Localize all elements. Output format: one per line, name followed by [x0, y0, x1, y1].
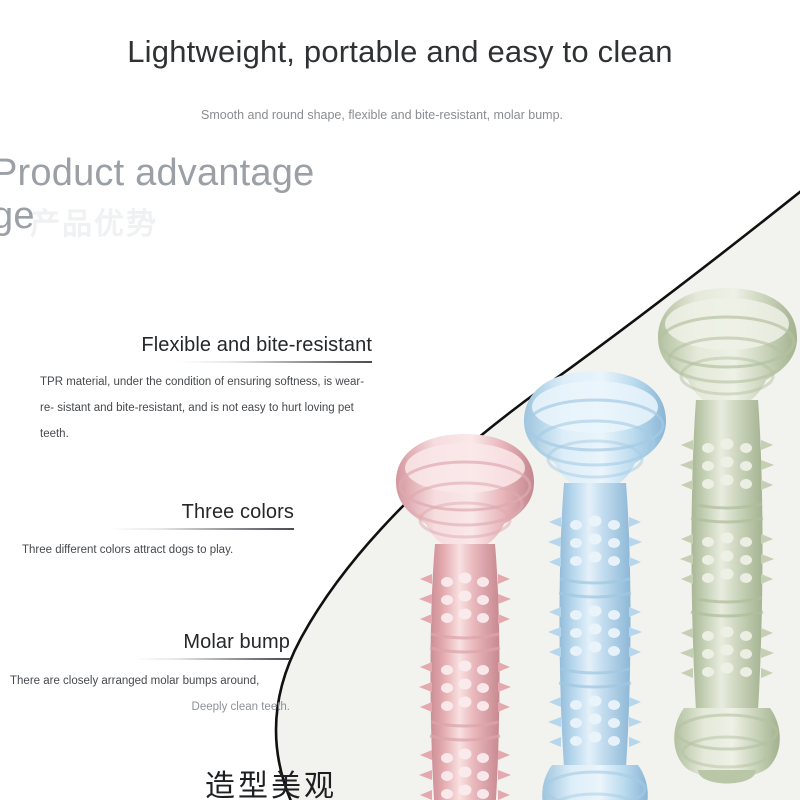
feature-molar-bump: Molar bump There are closely arranged mo…: [10, 630, 290, 720]
bottom-caption: 造型美观: [205, 770, 337, 800]
feature-title: Molar bump: [10, 630, 290, 654]
feature-underline: [134, 658, 290, 660]
feature-underline: [108, 528, 294, 530]
feature-desc-line-2: Deeply clean teeth.: [10, 694, 290, 720]
pink-chew-toy: [378, 428, 553, 800]
feature-description: Three different colors attract dogs to p…: [22, 539, 294, 561]
feature-three-colors: Three colors Three different colors attr…: [22, 500, 294, 561]
feature-flexible-bite-resistant: Flexible and bite-resistant TPR material…: [40, 333, 372, 447]
page-title: Lightweight, portable and easy to clean: [0, 34, 800, 70]
feature-description: TPR material, under the condition of ens…: [40, 369, 372, 447]
feature-description: There are closely arranged molar bumps a…: [10, 668, 290, 720]
feature-desc-line-1: There are closely arranged molar bumps a…: [10, 675, 259, 687]
feature-desc-line-1: Three different colors attract dogs to p…: [22, 544, 233, 556]
section-watermark: 产品优势: [30, 208, 330, 242]
section-heading-group: 产品优势 Product advantage ge: [0, 152, 352, 238]
pink-toy-art: [396, 434, 534, 800]
page-subtitle: Smooth and round shape, flexible and bit…: [201, 107, 573, 124]
product-advantage-poster: Lightweight, portable and easy to clean …: [0, 0, 800, 800]
feature-desc-line-2: sistant and bite-resistant, and is not e…: [40, 402, 354, 440]
feature-underline: [178, 361, 372, 363]
feature-title: Flexible and bite-resistant: [40, 333, 372, 357]
feature-title: Three colors: [22, 500, 294, 524]
